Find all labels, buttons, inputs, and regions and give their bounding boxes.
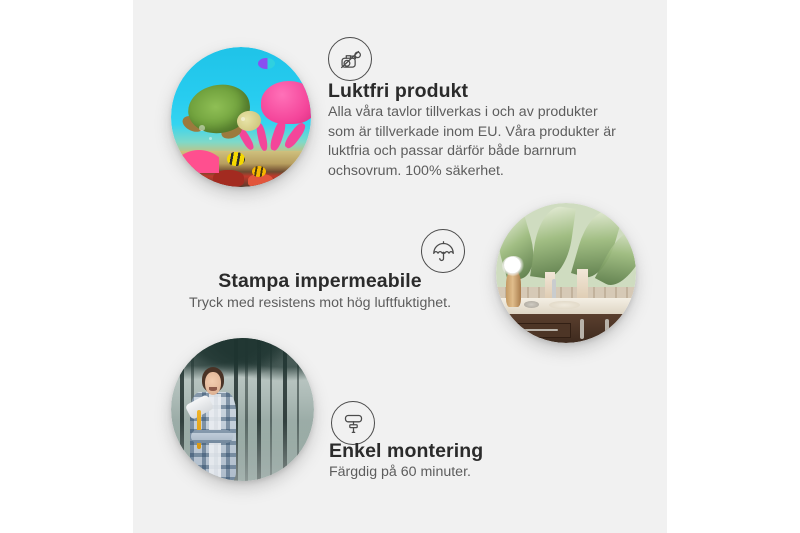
flower-shape <box>502 256 526 276</box>
drawer-shape <box>510 323 571 338</box>
folded-arm-shape <box>191 430 233 444</box>
coral-shape <box>179 134 218 173</box>
feature-description: Tryck med resistens mot hög luftfuktighe… <box>155 294 485 314</box>
woman-painter-forest-photo <box>171 338 314 481</box>
smile-shape <box>209 387 216 390</box>
feature-description: Alla våra tavlor tillverkas i och av pro… <box>328 103 618 181</box>
feature-title: Luktfri produkt <box>328 80 468 103</box>
bathroom-tropical-wallpaper-photo <box>496 203 636 343</box>
face-shape <box>205 372 221 395</box>
underwater-scene-art <box>171 47 311 187</box>
fish-shape <box>227 152 245 166</box>
umbrella-icon <box>421 229 465 273</box>
product-features-panel: Luktfri produkt Alla våra tavlor tillver… <box>133 0 667 533</box>
feature-title: Stampa impermeabile <box>155 270 485 293</box>
no-fragrance-icon <box>328 37 372 81</box>
cabinet-handle-shape <box>580 319 584 339</box>
bathroom-scene-art <box>496 203 636 343</box>
fish-shape <box>258 58 275 69</box>
sea-rock-shape <box>179 177 201 187</box>
paint-roller-icon <box>331 401 375 445</box>
octopus-shape <box>261 81 311 124</box>
woman-figure-shape <box>182 367 256 481</box>
octopus-tentacle-shape <box>282 121 307 151</box>
screenshot-canvas: Luktfri produkt Alla våra tavlor tillver… <box>0 0 800 533</box>
underwater-kids-illustration-photo <box>171 47 311 187</box>
feature-title: Enkel montering <box>329 440 483 463</box>
cabinet-handle-shape <box>605 319 609 339</box>
feature-description: Färgdig på 60 minuter. <box>329 463 579 483</box>
forest-scene-art <box>171 338 314 481</box>
bubble-shape <box>199 125 205 131</box>
